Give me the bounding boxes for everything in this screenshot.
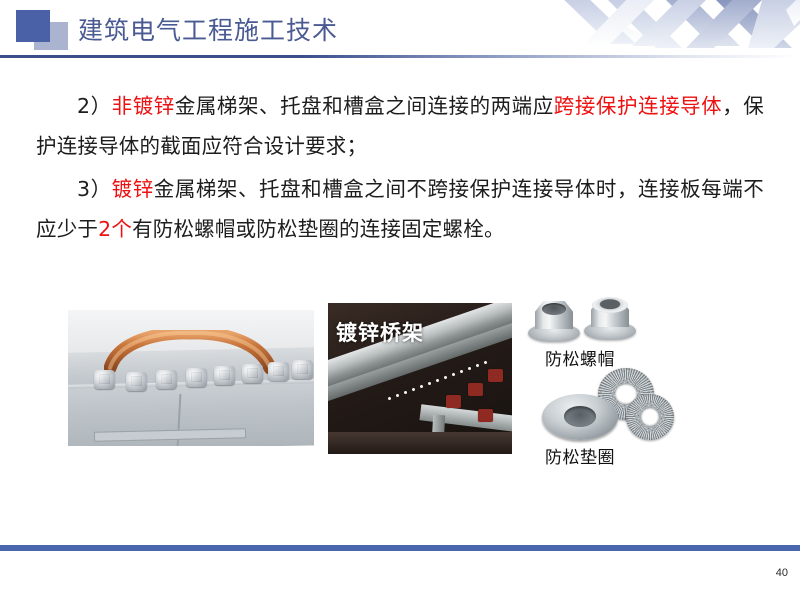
photo2-perforation <box>452 373 455 376</box>
photo2-perforation <box>460 370 463 373</box>
tray-bolt <box>268 362 289 381</box>
two-squares-logo-icon <box>12 8 74 52</box>
anti-loosening-serrated-washers-photo <box>532 368 684 444</box>
tray-bolt <box>186 368 207 387</box>
photo2-perforation <box>436 379 439 382</box>
photo2-red-marker-tag <box>468 383 483 396</box>
caption-anti-loosening-washer: 防松垫圈 <box>545 443 615 468</box>
paragraph-2: 2）非镀锌金属梯架、托盘和槽盒之间连接的两端应跨接保护连接导体，保护连接导体的截… <box>36 86 764 166</box>
galvanized-cable-tray-photo: 镀锌桥架 <box>328 303 512 454</box>
flange-lock-nut <box>584 297 636 341</box>
photo2-perforation <box>428 382 431 385</box>
photo2-perforation <box>484 361 487 364</box>
tray-bolt <box>94 370 115 389</box>
text-run-highlight: 非镀锌 <box>112 94 175 118</box>
page-title: 建筑电气工程施工技术 <box>78 11 338 47</box>
slide-canvas: 建筑电气工程施工技术 2）非镀锌金属梯架、托盘和槽盒之间连接的两端应跨接保护连接… <box>0 0 800 600</box>
photo2-red-marker-tag <box>488 369 503 382</box>
page-number: 40 <box>776 567 788 579</box>
text-run: 2） <box>77 94 112 118</box>
logo-square-front <box>16 10 50 42</box>
text-run-highlight: 跨接保护连接导体 <box>554 94 722 118</box>
tray-bolt <box>292 360 313 379</box>
chevron-pattern-icon <box>550 0 800 56</box>
slide-body-text: 2）非镀锌金属梯架、托盘和槽盒之间连接的两端应跨接保护连接导体，保护连接导体的截… <box>36 86 764 252</box>
nut-top-ring <box>592 297 628 313</box>
photo2-overlay-caption: 镀锌桥架 <box>336 317 424 347</box>
text-run: 金属梯架、托盘和槽盒之间连接的两端应 <box>175 94 554 118</box>
photo2-perforation <box>412 388 415 391</box>
photo2-perforation <box>388 397 391 400</box>
photo2-perforation <box>468 367 471 370</box>
photo2-perforation <box>476 364 479 367</box>
text-run-highlight: 2个 <box>98 217 132 241</box>
paragraph-3: 3）镀锌金属梯架、托盘和槽盒之间不跨接保护连接导体时，连接板每端不应少于2个有防… <box>36 169 764 249</box>
slide-header: 建筑电气工程施工技术 <box>0 0 800 58</box>
anti-loosening-flange-nuts-photo <box>528 297 658 345</box>
photo2-floor <box>328 432 512 454</box>
text-run-highlight: 镀锌 <box>112 177 154 201</box>
tray-bolt <box>126 372 147 391</box>
photo2-red-marker-tag <box>446 395 461 408</box>
caption-anti-loosening-nut: 防松螺帽 <box>545 345 615 370</box>
text-run: 有防松螺帽或防松垫圈的连接固定螺栓。 <box>132 217 505 241</box>
nut-thread-hole <box>542 303 566 315</box>
photo2-perforation <box>444 376 447 379</box>
photo2-perforation <box>396 394 399 397</box>
copper-braided-bonding-jumper-on-cable-tray-photo <box>68 310 314 446</box>
tray-bolt <box>156 370 177 389</box>
flat-lock-washer <box>542 394 618 440</box>
serrated-lock-washer <box>626 394 674 440</box>
tray-bolt <box>242 364 263 383</box>
footer-bar <box>0 545 800 551</box>
photo2-red-marker-tag <box>478 409 493 422</box>
tray-bolt <box>214 366 235 385</box>
flange-lock-nut <box>528 299 580 343</box>
text-run: 3） <box>77 177 112 201</box>
photo2-perforation <box>420 385 423 388</box>
photo2-perforation <box>404 391 407 394</box>
header-divider <box>0 55 800 58</box>
